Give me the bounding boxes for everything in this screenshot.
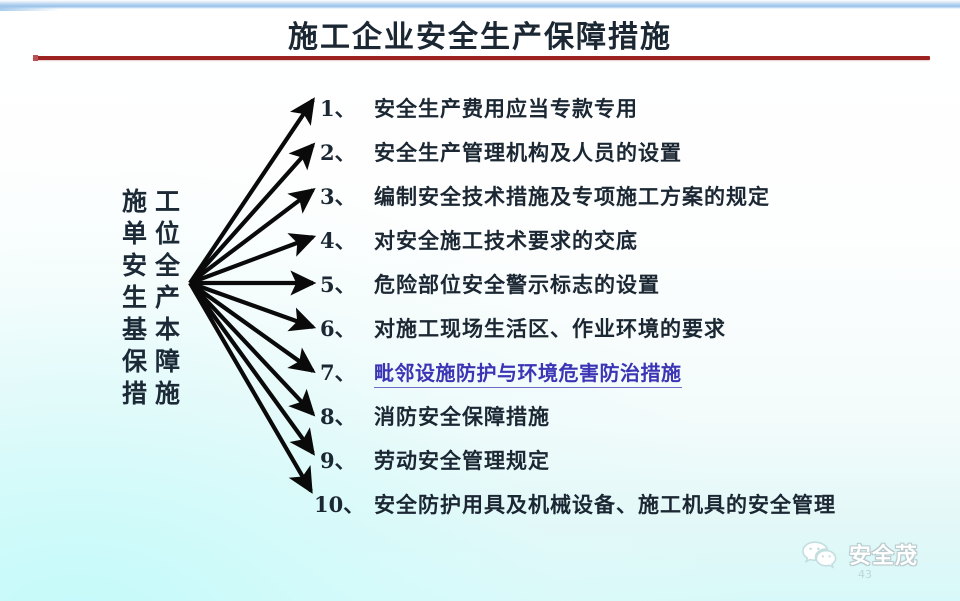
list-item[interactable]: 5、 危险部位安全警示标志的设置 xyxy=(320,262,940,306)
list-item-label: 编制安全技术措施及专项施工方案的规定 xyxy=(374,181,770,211)
root-label-char: 位 xyxy=(151,218,184,249)
top-decoration-strip-tail xyxy=(0,7,60,11)
list-item-label: 毗邻设施防护与环境危害防治措施 xyxy=(374,357,682,388)
root-label-char: 障 xyxy=(151,346,184,377)
arrow-to-item-9 xyxy=(190,283,313,453)
root-label-char: 产 xyxy=(151,282,184,313)
root-label-char: 全 xyxy=(151,250,184,281)
list-item-number: 10、 xyxy=(314,489,374,519)
page-number: 43 xyxy=(858,568,872,581)
list-item-number: 6、 xyxy=(320,313,374,343)
diagram-root-label: 施 工 单 位 安 全 生 产 基 本 保 障 措 施 xyxy=(112,186,190,409)
list-item-number: 4、 xyxy=(320,225,374,255)
list-item-number: 7、 xyxy=(320,357,374,387)
root-label-row: 措 施 xyxy=(118,378,184,409)
wechat-icon xyxy=(800,539,840,569)
slide-canvas: 施工企业安全生产保障措施 施 工 单 位 安 全 生 产 基 本 保 障 措 xyxy=(0,0,960,601)
root-label-char: 安 xyxy=(118,250,151,281)
list-item[interactable]: 8、 消防安全保障措施 xyxy=(320,394,940,438)
root-label-char: 措 xyxy=(118,378,151,409)
list-item-number: 2、 xyxy=(320,137,374,167)
list-item[interactable]: 6、 对施工现场生活区、作业环境的要求 xyxy=(320,306,940,350)
arrow-to-item-6 xyxy=(190,283,313,327)
arrow-to-item-1 xyxy=(190,100,313,283)
list-item-label: 安全防护用具及机械设备、施工机具的安全管理 xyxy=(374,489,836,519)
root-label-row: 生 产 xyxy=(118,282,184,313)
root-label-char: 保 xyxy=(118,346,151,377)
list-item-label: 劳动安全管理规定 xyxy=(374,445,550,475)
top-decoration-strip xyxy=(0,0,960,9)
arrow-to-item-4 xyxy=(190,237,313,283)
page-title: 施工企业安全生产保障措施 xyxy=(0,12,960,56)
list-item-label: 安全生产费用应当专款专用 xyxy=(374,93,638,123)
measure-list: 1、 安全生产费用应当专款专用 2、 安全生产管理机构及人员的设置 3、 编制安… xyxy=(320,86,940,526)
root-label-row: 单 位 xyxy=(118,218,184,249)
list-item-label: 对施工现场生活区、作业环境的要求 xyxy=(374,313,726,343)
root-label-char: 生 xyxy=(118,282,151,313)
list-item-label: 对安全施工技术要求的交底 xyxy=(374,225,638,255)
root-label-char: 工 xyxy=(151,186,184,217)
root-label-row: 安 全 xyxy=(118,250,184,281)
list-item-number: 8、 xyxy=(320,401,374,431)
root-label-char: 本 xyxy=(151,314,184,345)
list-item[interactable]: 4、 对安全施工技术要求的交底 xyxy=(320,218,940,262)
root-label-row: 施 工 xyxy=(118,186,184,217)
root-label-row: 基 本 xyxy=(118,314,184,345)
root-label-char: 单 xyxy=(118,218,151,249)
list-item[interactable]: 2、 安全生产管理机构及人员的设置 xyxy=(320,130,940,174)
watermark: 安全茂 xyxy=(800,538,918,570)
arrow-to-item-7 xyxy=(190,283,313,371)
list-item-label: 安全生产管理机构及人员的设置 xyxy=(374,137,682,167)
list-item-number: 1、 xyxy=(320,93,374,123)
arrow-to-item-3 xyxy=(190,190,313,283)
title-underline-rule-cap xyxy=(33,55,38,61)
root-label-char: 施 xyxy=(118,186,151,217)
list-item-label: 消防安全保障措施 xyxy=(374,401,550,431)
list-item-label: 危险部位安全警示标志的设置 xyxy=(374,269,660,299)
list-item-number: 3、 xyxy=(320,181,374,211)
arrow-to-item-8 xyxy=(190,283,313,414)
list-item-number: 9、 xyxy=(320,445,374,475)
list-item[interactable]: 10、 安全防护用具及机械设备、施工机具的安全管理 xyxy=(314,482,940,526)
root-label-char: 施 xyxy=(151,378,184,409)
arrow-to-item-10 xyxy=(190,283,311,491)
root-label-char: 基 xyxy=(118,314,151,345)
list-item[interactable]: 1、 安全生产费用应当专款专用 xyxy=(320,86,940,130)
arrow-to-item-2 xyxy=(190,145,313,283)
list-item[interactable]: 9、 劳动安全管理规定 xyxy=(320,438,940,482)
title-underline-rule xyxy=(33,56,930,60)
list-item-number: 5、 xyxy=(320,269,374,299)
list-item[interactable]: 3、 编制安全技术措施及专项施工方案的规定 xyxy=(320,174,940,218)
watermark-brand: 安全茂 xyxy=(849,538,918,570)
root-label-row: 保 障 xyxy=(118,346,184,377)
list-item-highlighted[interactable]: 7、 毗邻设施防护与环境危害防治措施 xyxy=(320,350,940,394)
